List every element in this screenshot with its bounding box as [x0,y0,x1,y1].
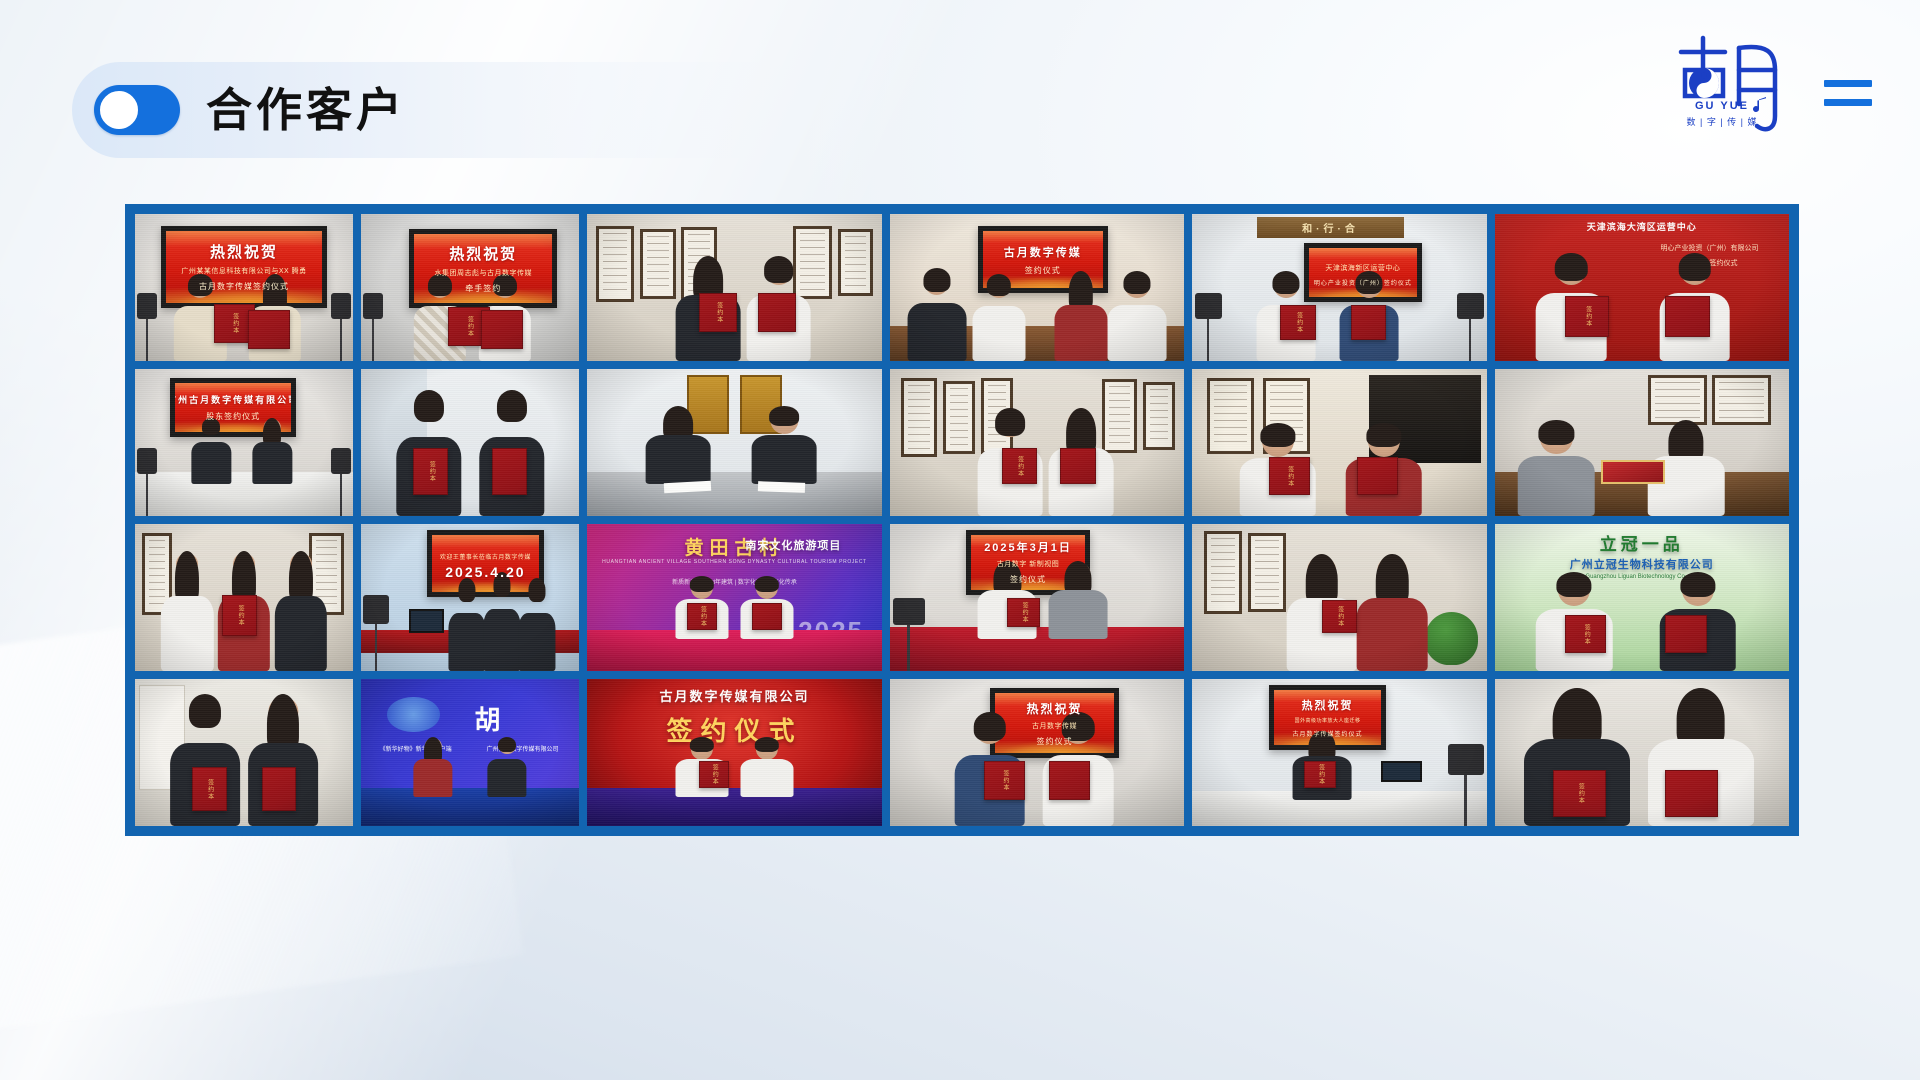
gold-plaque-calligraphy-hall[interactable]: 签约本 [890,369,1184,516]
led-subtitle-2: 古月数字传媒签约仪式 [199,281,289,292]
person-figure [161,553,213,671]
person-figure [752,407,817,483]
certificate-folder: 签约本 [1565,296,1609,337]
certificate-folder [1357,457,1398,495]
camera-tripod-icon [1448,744,1483,826]
signing-table [135,472,353,516]
award-certificate [1601,460,1666,484]
person-figure [1049,562,1108,638]
led-title: 热烈祝贺 [1027,700,1083,717]
xinhua-haowu-signing-stage[interactable]: 胡 《新华好物》新华网客户端 广州古月数字传媒有限公司 [361,679,579,826]
three-women-certificates-hall[interactable]: 签约本 [135,524,353,671]
led-title: 欢迎王董事长莅临古月数字传媒 [440,552,531,561]
banner-event-name: 签约仪式 [587,711,881,748]
certificate-folder: 签约本 [1565,615,1606,653]
person-figure [192,419,231,484]
person-figure [740,738,793,797]
certificate-folder [1351,305,1386,340]
led-subtitle-2: 古月数字传媒签约仪式 [1293,729,1363,738]
person-figure [646,407,711,483]
banner-line-2: 明心产业投资（广州）有限公司 [1636,243,1783,253]
camera-tripod-icon [893,598,925,672]
certificate-folder [758,293,796,331]
toggle-knob [97,88,141,132]
signing-ceremony-led-screen-1[interactable]: 热烈祝贺 广州某某信息科技有限公司与XX 腾勇 古月数字传媒签约仪式 签约本 [135,214,353,361]
gallery-row: 热烈祝贺 广州某某信息科技有限公司与XX 腾勇 古月数字传媒签约仪式 签约本 [135,214,1789,361]
huangtian-ancient-village-project[interactable]: 黄田古村 南宋文化旅游项目 HUANGTIAN ANCIENT VILLAGE … [587,524,881,671]
certificate-folder: 签约本 [1007,598,1039,627]
certificate-folder [248,310,289,350]
page-title: 合作客户 [206,87,406,133]
led-title: 古月数字传媒 [1004,244,1082,260]
two-women-certificates-portrait[interactable]: 签约本 [1495,679,1789,826]
calligraphy-frame [596,226,634,302]
led-subtitle: 古月数字传媒 [1032,721,1077,731]
camera-tripod-icon [363,595,389,671]
certificate-folder [1665,615,1706,653]
led-subtitle: 国外高级功率放大人座迁移 [1295,717,1361,724]
monitor-screen [409,609,444,633]
signing-table [587,788,881,826]
banner-subtitle: 南宋文化旅游项目 [723,537,864,553]
calligraphy-wall-pair-certificates[interactable]: 签约本 [1192,369,1486,516]
led-title: 2025年3月1日 [984,539,1072,555]
certificate-folder: 签约本 [699,761,728,787]
calligraphy-hall-handshake-women[interactable]: 签约本 [1192,524,1486,671]
signing-table [587,630,881,671]
certificate-folder [481,310,522,350]
led-subtitle: 广州某某信息科技有限公司与XX 腾勇 [181,266,306,276]
person-figure [483,574,520,671]
gallery-row: 签约本 欢迎王董事长莅临古月数字传媒 2025.4.20 [135,524,1789,671]
calligraphy-frame [640,229,675,300]
led-subtitle: 水集团周志彪与古月数字传媒 [434,268,532,278]
calligraphy-frame [1248,533,1286,612]
decorative-orb [387,697,439,732]
calligraphy-hall-two-people[interactable]: 签约本 [587,214,881,361]
menu-bar-top [1824,80,1872,87]
client-photo-gallery: 热烈祝贺 广州某某信息科技有限公司与XX 腾勇 古月数字传媒签约仪式 签约本 [125,204,1799,836]
certificate-folder [1665,296,1709,337]
certificate-folder: 签约本 [413,448,448,495]
section-header-pill: 合作客户 [72,62,812,158]
certificate-folder: 签约本 [984,761,1025,799]
certificate-folder [262,767,297,811]
person-figure [518,580,555,671]
logo-tagline: 数 | 字 | 传 | 媒 [1673,115,1771,128]
document-paper [758,481,805,493]
certificate-folder: 签约本 [1322,600,1357,632]
two-men-suits-certificates[interactable]: 签约本 [361,369,579,516]
banner-company: 广州立冠生物科技有限公司 [1495,556,1789,572]
plant-decoration [1425,612,1478,665]
person-figure [253,419,292,484]
signing-table [890,627,1184,671]
certificate-folder: 签约本 [1269,457,1310,495]
gallery-row: 广州古月数字传媒有限公司 股东签约仪式 [135,369,1789,516]
monitor-screen [1381,761,1422,782]
led-subtitle-2: 签约仪式 [1010,574,1046,585]
certificate-folder [1049,761,1090,799]
calligraphy-frame [1712,375,1771,425]
person-figure [1518,422,1595,516]
banner-title: 古月数字传媒有限公司 [587,686,881,705]
person-figure [448,580,485,671]
signing-ceremony-led-screen-2[interactable]: 热烈祝贺 水集团周志彪与古月数字传媒 牵手签约 签约本 [361,214,579,361]
led-title: 热烈祝贺 [1302,697,1354,713]
speaker-tripod-icon [1457,293,1484,361]
calligraphy-frame [901,378,936,457]
calligraphy-frame [1648,375,1707,425]
certificate-folder: 签约本 [1304,761,1336,787]
brand-glyph: 胡 [475,700,501,737]
led-subtitle-2: 牵手签约 [465,283,501,294]
tianjin-binhai-strategic-signing[interactable]: 天津滨海大湾区运营中心 明心产业投资（广州）有限公司 战略合作签约仪式 签约本 [1495,214,1789,361]
calligraphy-frame [943,381,975,455]
certificate-folder [1060,448,1095,483]
music-note-icon [1753,96,1769,114]
person-figure [907,270,966,361]
two-men-red-screen-certificates[interactable]: 热烈祝贺 古月数字传媒 签约仪式 签约本 [890,679,1184,826]
speaker-tripod-icon [331,293,351,361]
certificate-folder: 签约本 [192,767,227,811]
led-subtitle-2: 明心产业投资（广州）签约仪式 [1314,278,1412,287]
signing-table [587,472,881,516]
calligraphy-frame [838,229,873,297]
banner-line-1: 天津滨海大湾区运营中心 [1506,220,1777,244]
certificate-folder: 签约本 [1280,305,1315,340]
calligraphy-frame [1204,531,1242,613]
led-subtitle-2: 签约仪式 [1025,265,1061,276]
two-people-signing-documents[interactable] [587,369,881,516]
tea-room-award-ceremony[interactable] [1495,369,1789,516]
certificate-folder: 签约本 [687,603,716,629]
person-figure [972,276,1025,361]
banner-title: 立冠一品 [1495,530,1789,555]
led-subtitle: 天津滨海新区运营中心 [1325,263,1400,273]
led-date: 2025.4.20 [445,564,525,580]
toggle-switch-icon [94,85,180,135]
march-signing-ceremony-red-desk[interactable]: 2025年3月1日 古月数字 新制视图 签约仪式 签约本 [890,524,1184,671]
led-subtitle-2: 股东签约仪式 [206,411,260,422]
signing-table [361,788,579,826]
hall-sign-text: 和·行·合 [1269,220,1393,235]
person-figure [1055,273,1108,361]
couple-certificates-office[interactable]: 签约本 [135,679,353,826]
person-figure [1357,556,1428,671]
slide-root: 合作客户 GU YUE 数 | 字 | 传 | 媒 [0,0,1920,1080]
speaker-tripod-icon [137,448,157,516]
certificate-folder [752,603,781,629]
lixin-yipin-biotech-banner[interactable]: 立冠一品 广州立冠生物科技有限公司 Guangzhou Liguan Biote… [1495,524,1789,671]
led-title: 热烈祝贺 [449,243,517,264]
led-title: 热烈祝贺 [210,241,278,262]
person-figure [275,553,327,671]
group-photo-red-banner-desk[interactable]: 古月数字传媒 签约仪式 [890,214,1184,361]
menu-bar-bottom [1824,99,1872,106]
gallery-row: 签约本 胡 《新华好物》新华网客户端 广州古月数字传媒有限公司 [135,679,1789,826]
speaker-tripod-icon [137,293,157,361]
tianjin-investment-signing[interactable]: 和·行·合 天津滨海新区运营中心 明心产业投资（广州）签约仪式 签约本 [1192,214,1486,361]
congratulation-red-screen-seated[interactable]: 热烈祝贺 国外高级功率放大人座迁移 古月数字传媒签约仪式 签约本 [1192,679,1486,826]
person-figure [1108,273,1167,361]
led-subtitle-2: 签约仪式 [1037,736,1073,747]
banner-keywords: 新质新产业 | old年建筑 | 数字化运营 | 文化传承 [587,577,881,586]
person-figure [488,738,527,797]
certificate-folder: 签约本 [1553,770,1606,817]
certificate-folder [1665,770,1718,817]
welcome-chairman-visit-group[interactable]: 欢迎王董事长莅临古月数字传媒 2025.4.20 [361,524,579,671]
led-title: 广州古月数字传媒有限公司 [170,393,297,406]
guyue-signing-ceremony-stage[interactable]: 古月数字传媒有限公司 签约仪式 签约本 [587,679,881,826]
banner-english-sub: HUANGTIAN ANCIENT VILLAGE SOUTHERN SONG … [587,559,881,565]
speaker-tripod-icon [1195,293,1222,361]
speaker-tripod-icon [331,448,351,516]
speaker-tripod-icon [363,293,383,361]
certificate-folder: 签约本 [699,293,737,331]
hamburger-menu-icon[interactable] [1824,80,1872,106]
guangzhou-guyue-shareholder-signing[interactable]: 广州古月数字传媒有限公司 股东签约仪式 [135,369,353,516]
calligraphy-frame [1143,382,1175,450]
led-subtitle: 古月数字 新制视图 [997,559,1059,569]
certificate-folder [492,448,527,495]
person-figure [413,738,452,797]
brand-logo: GU YUE 数 | 字 | 传 | 媒 [1667,26,1802,138]
certificate-folder: 签约本 [1002,448,1037,483]
certificate-folder: 签约本 [222,595,257,636]
